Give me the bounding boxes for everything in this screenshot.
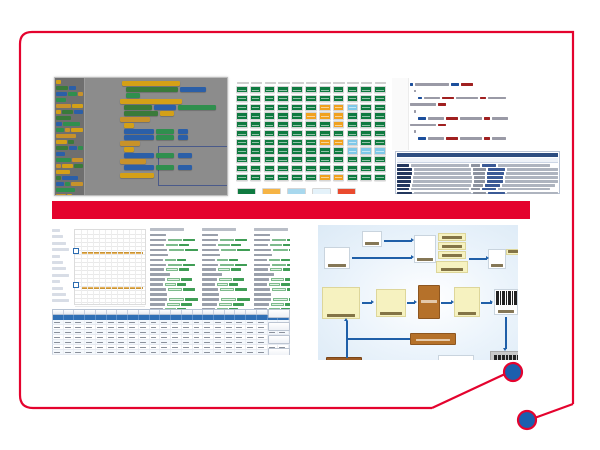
status-cell[interactable]	[347, 104, 359, 111]
palette-block-row[interactable]	[56, 158, 83, 162]
data-grid-cell[interactable]	[171, 335, 182, 339]
program-block[interactable]	[124, 129, 154, 134]
data-grid-cell[interactable]	[128, 345, 139, 349]
status-cell[interactable]	[305, 86, 317, 93]
status-cell[interactable]	[236, 139, 248, 146]
status-cell[interactable]	[347, 86, 359, 93]
status-cell[interactable]	[360, 86, 372, 93]
data-grid-cell[interactable]	[235, 350, 246, 354]
status-cell[interactable]	[374, 156, 386, 163]
program-block[interactable]	[120, 99, 182, 104]
data-grid-column-header[interactable]	[257, 310, 268, 314]
data-grid-cell[interactable]	[64, 330, 75, 334]
data-grid-cell[interactable]	[193, 350, 204, 354]
status-cell[interactable]	[264, 95, 276, 102]
status-cell[interactable]	[319, 86, 331, 93]
data-grid-cell[interactable]	[214, 325, 225, 329]
palette-block[interactable]	[56, 146, 68, 150]
status-cell[interactable]	[347, 112, 359, 119]
status-cell[interactable]	[291, 165, 303, 172]
data-grid-cell[interactable]	[117, 350, 128, 354]
data-grid-cell[interactable]	[182, 340, 193, 344]
palette-block[interactable]	[62, 110, 74, 114]
data-grid-cell[interactable]	[214, 330, 225, 334]
data-grid-cell[interactable]	[160, 330, 171, 334]
data-grid-cell[interactable]	[53, 345, 64, 349]
palette-block[interactable]	[68, 140, 74, 144]
data-grid-column-header[interactable]	[53, 310, 64, 314]
data-grid-cell[interactable]	[53, 330, 64, 334]
status-cell[interactable]	[319, 156, 331, 163]
data-grid-cell[interactable]	[139, 330, 150, 334]
grid-action-button[interactable]	[268, 322, 290, 331]
data-grid-cell[interactable]	[171, 340, 182, 344]
data-grid-column-header[interactable]	[171, 310, 182, 314]
program-block[interactable]	[178, 165, 192, 170]
palette-block[interactable]	[56, 116, 71, 120]
status-cell[interactable]	[236, 121, 248, 128]
palette-block[interactable]	[71, 182, 83, 186]
palette-block[interactable]	[69, 86, 76, 90]
status-cell[interactable]	[277, 112, 289, 119]
status-cell[interactable]	[250, 104, 262, 111]
data-grid-cell[interactable]	[257, 335, 268, 339]
status-cell[interactable]	[319, 95, 331, 102]
data-grid-cell[interactable]	[107, 335, 118, 339]
status-cell[interactable]	[333, 156, 345, 163]
palette-block-row[interactable]	[56, 194, 83, 196]
grid-action-button[interactable]	[268, 309, 290, 318]
data-grid-cell[interactable]	[257, 345, 268, 349]
data-grid-cell[interactable]	[107, 340, 118, 344]
status-cell[interactable]	[250, 121, 262, 128]
status-cell[interactable]	[277, 147, 289, 154]
palette-block[interactable]	[78, 92, 83, 96]
program-block[interactable]	[154, 105, 176, 110]
palette-block-row[interactable]	[56, 146, 83, 150]
data-grid-cell[interactable]	[246, 335, 257, 339]
data-grid-cell[interactable]	[150, 330, 161, 334]
data-grid-cell[interactable]	[139, 335, 150, 339]
status-cell[interactable]	[319, 165, 331, 172]
console-log-row[interactable]	[397, 168, 558, 170]
grid-action-button[interactable]	[268, 335, 290, 344]
data-grid-cell[interactable]	[171, 345, 182, 349]
data-grid-cell[interactable]	[117, 325, 128, 329]
status-cell[interactable]	[319, 130, 331, 137]
palette-block[interactable]	[56, 122, 62, 126]
status-cell[interactable]	[374, 174, 386, 181]
palette-block[interactable]	[72, 104, 83, 108]
data-grid-cell[interactable]	[85, 335, 96, 339]
data-grid-column-header[interactable]	[225, 310, 236, 314]
status-cell[interactable]	[374, 86, 386, 93]
code-line[interactable]	[410, 97, 558, 100]
status-cell[interactable]	[333, 112, 345, 119]
palette-block[interactable]	[56, 98, 66, 102]
status-cell[interactable]	[374, 165, 386, 172]
data-grid-cell[interactable]	[150, 335, 161, 339]
palette-block-row[interactable]	[56, 86, 83, 90]
data-grid-cell[interactable]	[53, 325, 64, 329]
status-cell[interactable]	[305, 121, 317, 128]
status-cell[interactable]	[347, 139, 359, 146]
data-grid-cell[interactable]	[160, 335, 171, 339]
data-grid-cell[interactable]	[74, 320, 85, 324]
data-grid-cell[interactable]	[139, 320, 150, 324]
palette-block[interactable]	[56, 188, 75, 192]
palette-block-row[interactable]	[56, 140, 83, 144]
palette-block[interactable]	[62, 176, 78, 180]
status-cell[interactable]	[236, 86, 248, 93]
code-line[interactable]	[410, 117, 558, 120]
palette-block-row[interactable]	[56, 116, 83, 120]
program-block[interactable]	[120, 159, 146, 164]
status-cell[interactable]	[305, 95, 317, 102]
data-grid-cell[interactable]	[96, 350, 107, 354]
status-cell[interactable]	[236, 130, 248, 137]
status-cell[interactable]	[360, 165, 372, 172]
data-grid-cell[interactable]	[182, 320, 193, 324]
program-block[interactable]	[124, 111, 158, 116]
data-grid-cell[interactable]	[53, 320, 64, 324]
status-cell[interactable]	[319, 139, 331, 146]
data-grid-cell[interactable]	[160, 345, 171, 349]
status-cell[interactable]	[236, 95, 248, 102]
data-grid-cell[interactable]	[246, 350, 257, 354]
data-grid-cell[interactable]	[117, 330, 128, 334]
data-grid-cell[interactable]	[85, 330, 96, 334]
status-cell[interactable]	[374, 121, 386, 128]
status-cell[interactable]	[250, 95, 262, 102]
data-grid-cell[interactable]	[74, 325, 85, 329]
palette-block-row[interactable]	[56, 104, 83, 108]
status-cell[interactable]	[250, 139, 262, 146]
status-cell[interactable]	[305, 165, 317, 172]
console-log-row[interactable]	[397, 176, 558, 178]
data-grid-cell[interactable]	[107, 345, 118, 349]
status-cell[interactable]	[319, 112, 331, 119]
palette-block[interactable]	[65, 128, 70, 132]
data-grid-cell[interactable]	[53, 335, 64, 339]
data-grid-cell[interactable]	[96, 345, 107, 349]
console-log-row[interactable]	[397, 188, 558, 190]
status-cell[interactable]	[360, 104, 372, 111]
program-block[interactable]	[124, 135, 154, 140]
data-grid-cell[interactable]	[64, 325, 75, 329]
data-grid-cell[interactable]	[64, 350, 75, 354]
data-grid-cell[interactable]	[235, 340, 246, 344]
data-grid-cell[interactable]	[246, 325, 257, 329]
data-grid-cell[interactable]	[225, 330, 236, 334]
data-grid-cell[interactable]	[85, 320, 96, 324]
status-cell[interactable]	[277, 95, 289, 102]
status-cell[interactable]	[291, 104, 303, 111]
data-grid-cell[interactable]	[203, 325, 214, 329]
data-grid-cell[interactable]	[203, 320, 214, 324]
status-cell[interactable]	[291, 139, 303, 146]
status-cell[interactable]	[333, 139, 345, 146]
program-block[interactable]	[124, 105, 152, 110]
status-cell[interactable]	[291, 121, 303, 128]
code-line[interactable]	[410, 130, 558, 133]
palette-block[interactable]	[56, 182, 64, 186]
palette-block[interactable]	[68, 92, 76, 96]
data-grid-cell[interactable]	[160, 320, 171, 324]
data-grid-column-header[interactable]	[107, 310, 118, 314]
code-line[interactable]	[410, 90, 558, 93]
data-grid-cell[interactable]	[85, 325, 96, 329]
palette-block[interactable]	[56, 128, 64, 132]
status-cell[interactable]	[374, 104, 386, 111]
status-cell[interactable]	[264, 121, 276, 128]
data-grid-cell[interactable]	[85, 350, 96, 354]
program-block[interactable]	[156, 129, 174, 134]
status-cell[interactable]	[374, 139, 386, 146]
status-cell[interactable]	[305, 112, 317, 119]
status-cell[interactable]	[264, 147, 276, 154]
data-grid-cell[interactable]	[203, 350, 214, 354]
data-grid-cell[interactable]	[182, 335, 193, 339]
status-cell[interactable]	[360, 139, 372, 146]
data-grid-cell[interactable]	[117, 320, 128, 324]
palette-block-row[interactable]	[56, 152, 83, 156]
program-block[interactable]	[160, 111, 174, 116]
grid-action-button[interactable]	[268, 348, 290, 355]
data-grid-cell[interactable]	[64, 320, 75, 324]
data-grid-cell[interactable]	[214, 340, 225, 344]
status-cell[interactable]	[347, 130, 359, 137]
palette-block[interactable]	[56, 110, 61, 114]
status-cell[interactable]	[374, 112, 386, 119]
status-cell[interactable]	[291, 156, 303, 163]
data-grid-cell[interactable]	[203, 330, 214, 334]
data-grid-column-header[interactable]	[214, 310, 225, 314]
data-grid-cell[interactable]	[235, 345, 246, 349]
status-cell[interactable]	[291, 112, 303, 119]
status-cell[interactable]	[360, 130, 372, 137]
data-grid-cell[interactable]	[96, 330, 107, 334]
data-grid-cell[interactable]	[64, 340, 75, 344]
data-grid-cell[interactable]	[160, 325, 171, 329]
status-cell[interactable]	[291, 174, 303, 181]
status-cell[interactable]	[236, 174, 248, 181]
data-grid-cell[interactable]	[107, 325, 118, 329]
console-log-row[interactable]	[397, 164, 558, 166]
status-cell[interactable]	[291, 95, 303, 102]
palette-block-row[interactable]	[56, 80, 83, 84]
data-grid-column-header[interactable]	[203, 310, 214, 314]
status-cell[interactable]	[264, 130, 276, 137]
data-grid-cell[interactable]	[107, 350, 118, 354]
status-cell[interactable]	[277, 130, 289, 137]
status-cell[interactable]	[264, 165, 276, 172]
status-cell[interactable]	[277, 139, 289, 146]
palette-block[interactable]	[74, 164, 83, 168]
palette-block[interactable]	[56, 140, 67, 144]
program-block[interactable]	[124, 153, 154, 158]
data-grid-cell[interactable]	[193, 325, 204, 329]
data-grid-cell[interactable]	[246, 340, 257, 344]
data-grid-cell[interactable]	[246, 320, 257, 324]
data-grid-column-header[interactable]	[182, 310, 193, 314]
data-grid-cell[interactable]	[235, 320, 246, 324]
data-grid-cell[interactable]	[193, 345, 204, 349]
data-grid-column-header[interactable]	[193, 310, 204, 314]
palette-block-row[interactable]	[56, 164, 83, 168]
palette-block[interactable]	[56, 104, 71, 108]
palette-block[interactable]	[56, 158, 71, 162]
data-grid-cell[interactable]	[53, 350, 64, 354]
status-cell[interactable]	[347, 121, 359, 128]
data-grid-column-header[interactable]	[64, 310, 75, 314]
palette-block[interactable]	[78, 146, 83, 150]
program-block[interactable]	[180, 87, 206, 92]
status-cell[interactable]	[305, 139, 317, 146]
status-cell[interactable]	[333, 174, 345, 181]
status-cell[interactable]	[333, 95, 345, 102]
data-grid-cell[interactable]	[225, 325, 236, 329]
status-cell[interactable]	[250, 86, 262, 93]
status-cell[interactable]	[347, 95, 359, 102]
data-grid-cell[interactable]	[203, 340, 214, 344]
program-block[interactable]	[178, 105, 216, 110]
palette-block-row[interactable]	[56, 92, 83, 96]
data-grid-cell[interactable]	[139, 350, 150, 354]
data-grid-cell[interactable]	[257, 320, 268, 324]
palette-block[interactable]	[56, 92, 67, 96]
program-block[interactable]	[120, 117, 150, 122]
status-cell[interactable]	[277, 104, 289, 111]
program-block[interactable]	[122, 81, 180, 86]
status-cell[interactable]	[374, 147, 386, 154]
code-line[interactable]	[410, 110, 558, 113]
data-grid-cell[interactable]	[257, 330, 268, 334]
data-grid-column-header[interactable]	[246, 310, 257, 314]
palette-block[interactable]	[63, 122, 80, 126]
data-grid-cell[interactable]	[257, 350, 268, 354]
status-cell[interactable]	[264, 86, 276, 93]
data-grid-cell[interactable]	[225, 345, 236, 349]
data-grid-column-header[interactable]	[85, 310, 96, 314]
data-grid-cell[interactable]	[96, 340, 107, 344]
status-cell[interactable]	[305, 130, 317, 137]
data-grid-cell[interactable]	[74, 340, 85, 344]
data-grid-cell[interactable]	[160, 350, 171, 354]
program-block[interactable]	[124, 165, 154, 170]
data-grid-cell[interactable]	[139, 340, 150, 344]
status-cell[interactable]	[333, 104, 345, 111]
status-cell[interactable]	[236, 165, 248, 172]
status-cell[interactable]	[250, 147, 262, 154]
status-cell[interactable]	[347, 174, 359, 181]
program-block[interactable]	[124, 147, 134, 152]
palette-block[interactable]	[62, 164, 74, 168]
data-grid-cell[interactable]	[193, 340, 204, 344]
status-cell[interactable]	[291, 130, 303, 137]
data-grid-cell[interactable]	[171, 330, 182, 334]
data-grid-cell[interactable]	[117, 335, 128, 339]
program-block[interactable]	[156, 165, 174, 170]
program-block[interactable]	[126, 93, 140, 98]
data-grid-cell[interactable]	[214, 320, 225, 324]
palette-block-row[interactable]	[56, 128, 83, 132]
data-grid-cell[interactable]	[225, 350, 236, 354]
data-grid-column-header[interactable]	[117, 310, 128, 314]
status-cell[interactable]	[360, 95, 372, 102]
data-grid-cell[interactable]	[150, 340, 161, 344]
status-cell[interactable]	[333, 147, 345, 154]
data-grid-cell[interactable]	[64, 345, 75, 349]
data-grid-cell[interactable]	[235, 330, 246, 334]
data-grid-cell[interactable]	[74, 330, 85, 334]
palette-block-row[interactable]	[56, 188, 83, 192]
gantt-milestone-node[interactable]	[73, 282, 79, 288]
status-cell[interactable]	[333, 121, 345, 128]
data-grid-cell[interactable]	[182, 325, 193, 329]
status-cell[interactable]	[360, 112, 372, 119]
data-grid-cell[interactable]	[235, 325, 246, 329]
data-grid-cell[interactable]	[171, 325, 182, 329]
data-grid-cell[interactable]	[128, 350, 139, 354]
palette-block-row[interactable]	[56, 170, 83, 174]
data-grid-cell[interactable]	[225, 335, 236, 339]
console-log-row[interactable]	[397, 180, 558, 182]
data-grid-side-buttons[interactable]	[268, 309, 290, 355]
program-block[interactable]	[178, 129, 188, 134]
palette-block[interactable]	[56, 134, 76, 138]
data-grid-cell[interactable]	[128, 330, 139, 334]
data-grid-column-header[interactable]	[96, 310, 107, 314]
status-cell[interactable]	[277, 174, 289, 181]
palette-block-row[interactable]	[56, 98, 83, 102]
status-cell[interactable]	[264, 139, 276, 146]
data-grid-column-header[interactable]	[150, 310, 161, 314]
data-grid-cell[interactable]	[257, 325, 268, 329]
status-cell[interactable]	[374, 130, 386, 137]
data-grid-cell[interactable]	[235, 335, 246, 339]
status-cell[interactable]	[236, 104, 248, 111]
status-cell[interactable]	[250, 112, 262, 119]
status-cell[interactable]	[319, 121, 331, 128]
data-grid-cell[interactable]	[128, 335, 139, 339]
data-grid-column-header[interactable]	[160, 310, 171, 314]
data-grid-cell[interactable]	[193, 335, 204, 339]
palette-block[interactable]	[56, 164, 61, 168]
data-grid-cell[interactable]	[74, 335, 85, 339]
program-block[interactable]	[156, 135, 174, 140]
palette-block-row[interactable]	[56, 182, 83, 186]
status-cell[interactable]	[264, 174, 276, 181]
data-grid-column-header[interactable]	[139, 310, 150, 314]
palette-block[interactable]	[71, 128, 83, 132]
data-grid-cell[interactable]	[257, 340, 268, 344]
data-grid-cell[interactable]	[171, 350, 182, 354]
data-grid-cell[interactable]	[117, 340, 128, 344]
code-line[interactable]	[410, 103, 558, 106]
program-block[interactable]	[120, 173, 154, 178]
console-log-row[interactable]	[397, 172, 558, 174]
status-cell[interactable]	[360, 121, 372, 128]
status-cell[interactable]	[305, 147, 317, 154]
status-cell[interactable]	[360, 147, 372, 154]
data-grid-cell[interactable]	[128, 320, 139, 324]
palette-block[interactable]	[72, 158, 83, 162]
status-cell[interactable]	[277, 121, 289, 128]
palette-block-row[interactable]	[56, 134, 83, 138]
status-cell[interactable]	[347, 165, 359, 172]
status-cell[interactable]	[319, 147, 331, 154]
